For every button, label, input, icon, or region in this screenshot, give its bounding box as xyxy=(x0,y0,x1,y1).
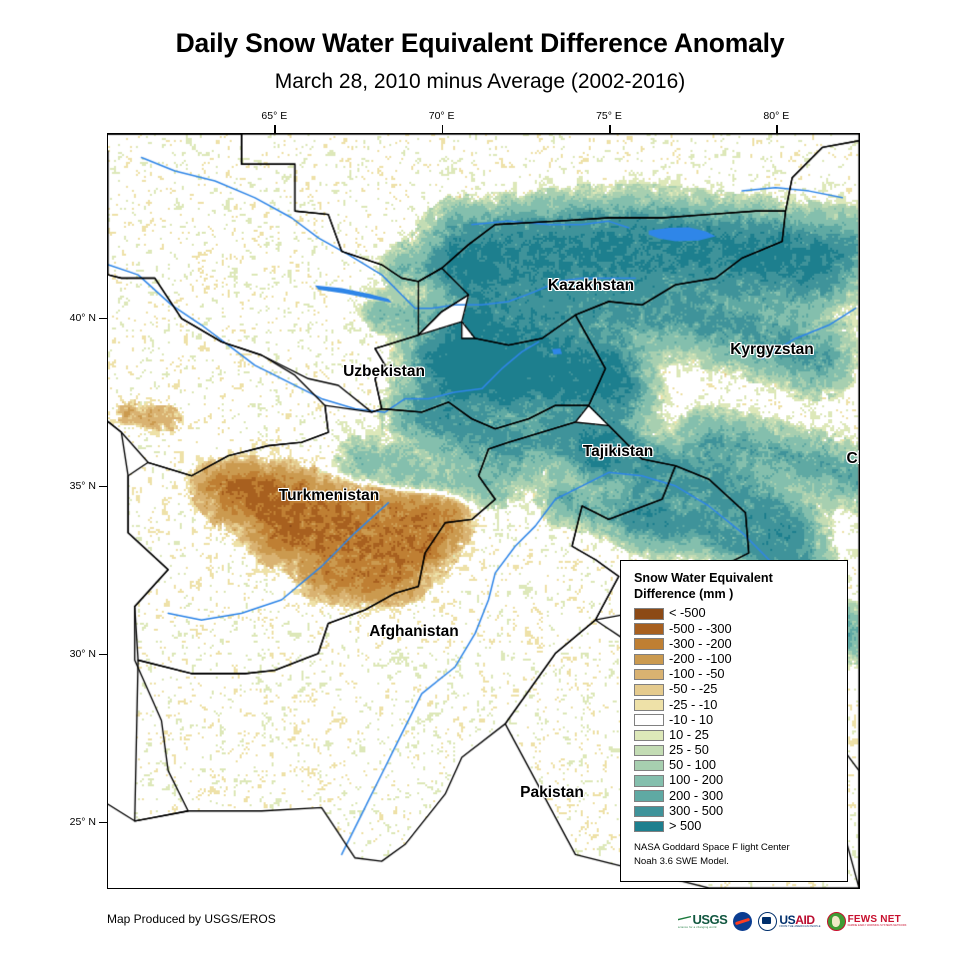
usgs-logo: USGS science for a changing world xyxy=(678,910,727,932)
legend-label: -300 - -200 xyxy=(669,638,732,651)
fewsnet-globe-icon xyxy=(827,912,846,931)
legend-row: -50 - -25 xyxy=(634,682,837,697)
lon-label-75: 75° E xyxy=(596,110,622,122)
legend-label: -500 - -300 xyxy=(669,623,732,636)
lon-label-80: 80° E xyxy=(763,110,789,122)
map-legend: Snow Water Equivalent Difference (mm ) <… xyxy=(620,560,848,882)
legend-swatch-icon xyxy=(634,760,664,772)
legend-row: -200 - -100 xyxy=(634,652,837,667)
legend-label: -10 - 10 xyxy=(669,714,713,727)
legend-row: 10 - 25 xyxy=(634,728,837,743)
legend-title: Snow Water Equivalent Difference (mm ) xyxy=(634,570,837,602)
usaid-logo: USAID FROM THE AMERICAN PEOPLE xyxy=(758,910,820,932)
page-title: Daily Snow Water Equivalent Difference A… xyxy=(0,28,960,59)
map-page: Daily Snow Water Equivalent Difference A… xyxy=(0,0,960,960)
legend-label: -25 - -10 xyxy=(669,699,717,712)
legend-swatch-icon xyxy=(634,821,664,833)
legend-label: 10 - 25 xyxy=(669,729,709,742)
fewsnet-logo: FEWS NET FAMINE EARLY WARNING SYSTEMS NE… xyxy=(827,910,907,932)
legend-label: -50 - -25 xyxy=(669,683,717,696)
legend-row: 200 - 300 xyxy=(634,788,837,803)
legend-row: > 500 xyxy=(634,819,837,834)
legend-label: -200 - -100 xyxy=(669,653,732,666)
usgs-tagline: science for a changing world xyxy=(678,926,727,929)
lon-label-70: 70° E xyxy=(429,110,455,122)
page-subtitle: March 28, 2010 minus Average (2002-2016) xyxy=(0,70,960,94)
legend-swatch-icon xyxy=(634,684,664,696)
legend-row: 300 - 500 xyxy=(634,804,837,819)
usgs-wave-icon xyxy=(678,914,691,925)
legend-row: 25 - 50 xyxy=(634,743,837,758)
legend-swatch-icon xyxy=(634,608,664,620)
legend-label: > 500 xyxy=(669,820,701,833)
legend-swatch-icon xyxy=(634,806,664,818)
legend-swatch-icon xyxy=(634,745,664,757)
usgs-wordmark: USGS xyxy=(693,913,728,926)
legend-swatch-icon xyxy=(634,730,664,742)
lat-label-30: 30° N xyxy=(70,648,96,660)
nasa-meatball-icon xyxy=(733,912,752,931)
lon-label-65: 65° E xyxy=(261,110,287,122)
legend-label: 300 - 500 xyxy=(669,805,723,818)
legend-swatch-icon xyxy=(634,654,664,666)
lat-label-35: 35° N xyxy=(70,480,96,492)
legend-label: 200 - 300 xyxy=(669,790,723,803)
legend-row: -500 - -300 xyxy=(634,621,837,636)
legend-row: 50 - 100 xyxy=(634,758,837,773)
lat-label-40: 40° N xyxy=(70,312,96,324)
agency-logo-strip: USGS science for a changing world USAID … xyxy=(678,908,907,934)
legend-class-list: < -500-500 - -300-300 - -200-200 - -100-… xyxy=(634,606,837,834)
legend-source-line1: NASA Goddard Space F light Center xyxy=(634,841,837,855)
legend-row: -10 - 10 xyxy=(634,713,837,728)
lat-label-25: 25° N xyxy=(70,816,96,828)
fewsnet-tagline: FAMINE EARLY WARNING SYSTEMS NETWORK xyxy=(848,925,907,928)
legend-swatch-icon xyxy=(634,623,664,635)
usaid-seal-icon xyxy=(758,912,777,931)
legend-swatch-icon xyxy=(634,669,664,681)
legend-label: 100 - 200 xyxy=(669,774,723,787)
footer-credit: Map Produced by USGS/EROS xyxy=(107,912,276,926)
legend-row: < -500 xyxy=(634,606,837,621)
nasa-logo xyxy=(733,910,752,932)
legend-source: NASA Goddard Space F light Center Noah 3… xyxy=(634,841,837,869)
legend-label: < -500 xyxy=(669,607,706,620)
legend-row: -300 - -200 xyxy=(634,637,837,652)
legend-source-line2: Noah 3.6 SWE Model. xyxy=(634,855,837,869)
legend-swatch-icon xyxy=(634,638,664,650)
usaid-tagline: FROM THE AMERICAN PEOPLE xyxy=(779,926,820,929)
legend-swatch-icon xyxy=(634,699,664,711)
legend-row: -25 - -10 xyxy=(634,697,837,712)
legend-swatch-icon xyxy=(634,714,664,726)
legend-row: 100 - 200 xyxy=(634,773,837,788)
legend-swatch-icon xyxy=(634,775,664,787)
legend-label: -100 - -50 xyxy=(669,668,724,681)
legend-label: 25 - 50 xyxy=(669,744,709,757)
legend-swatch-icon xyxy=(634,790,664,802)
legend-title-line2: Difference (mm ) xyxy=(634,586,837,602)
legend-row: -100 - -50 xyxy=(634,667,837,682)
legend-title-line1: Snow Water Equivalent xyxy=(634,570,837,586)
legend-label: 50 - 100 xyxy=(669,759,716,772)
